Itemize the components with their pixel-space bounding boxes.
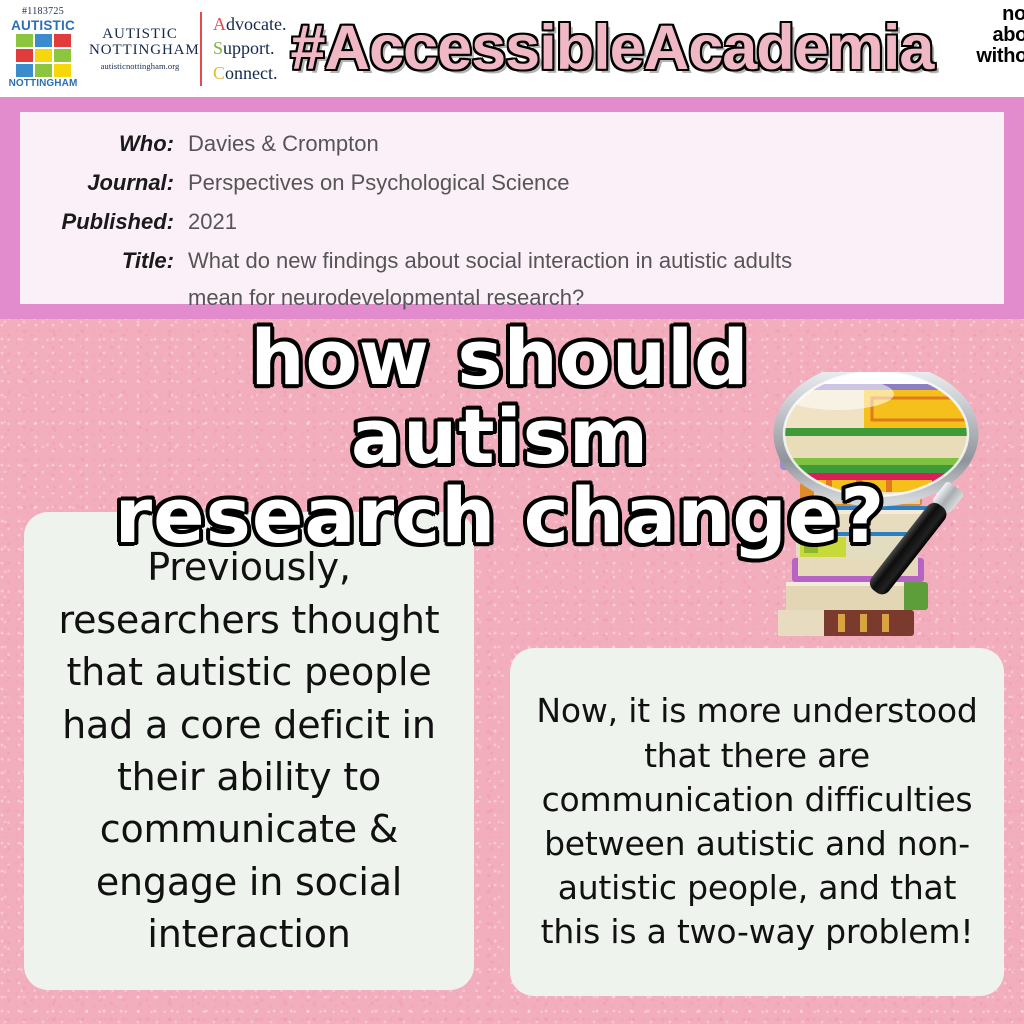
logo-cell-9: [54, 64, 71, 77]
card-now-text: Now, it is more understood that there ar…: [528, 689, 986, 954]
card-previously-text: Previously, researchers thought that aut…: [44, 541, 454, 961]
metadata-row-who: Who: Davies & Crompton: [36, 126, 988, 163]
logo-cell-4: [16, 49, 33, 62]
page-number: 1/4: [933, 67, 1024, 93]
brand-line-1: AUTISTIC: [89, 26, 191, 42]
value-support-rest: upport.: [223, 38, 275, 58]
value-connect: Connect.: [213, 61, 286, 85]
metadata-title-line-2: mean for neurodevelopmental research?: [188, 280, 988, 317]
logo-cell-1: [16, 34, 33, 47]
card-previously: Previously, researchers thought that aut…: [24, 512, 474, 990]
metadata-row-published: Published: 2021: [36, 204, 988, 241]
value-connect-initial: C: [213, 63, 225, 83]
logo-cell-8: [35, 64, 52, 77]
card-now: Now, it is more understood that there ar…: [510, 648, 1004, 996]
metadata-label-title: Title:: [36, 243, 188, 280]
magnifying-glass-books-illustration: [752, 372, 1020, 648]
brand-name-block: AUTISTIC NOTTINGHAM autisticnottingham.o…: [89, 26, 191, 72]
tagline-block: nothing about us without us 1/4: [933, 4, 1024, 93]
logo-bottom-word: NOTTINGHAM: [9, 79, 78, 89]
tagline-line-3: without us: [933, 46, 1024, 67]
infographic-page: #1183725 AUTISTIC NOTTINGHAM AUTISTIC NO…: [0, 0, 1024, 1024]
metadata-value-journal: Perspectives on Psychological Science: [188, 165, 988, 202]
hashtag-accessible-academia: #AccessibleAcademia: [290, 17, 933, 80]
logo-color-grid: [16, 34, 71, 77]
book-green: [786, 582, 928, 610]
value-advocate-rest: dvocate.: [226, 14, 286, 34]
autistic-nottingham-logo: #1183725 AUTISTIC NOTTINGHAM: [3, 3, 83, 95]
charity-reference-number: #1183725: [22, 7, 64, 17]
values-block: Advocate. Support. Connect.: [213, 12, 286, 85]
tagline-line-1: nothing: [933, 4, 1024, 25]
book-dark-brown: [778, 610, 914, 636]
logo-cell-5: [35, 49, 52, 62]
metadata-title-line-1: What do new findings about social intera…: [188, 248, 792, 273]
value-advocate: Advocate.: [213, 12, 286, 36]
value-support: Support.: [213, 36, 286, 60]
brand-line-2: NOTTINGHAM: [89, 42, 191, 58]
logo-cell-7: [16, 64, 33, 77]
metadata-value-who: Davies & Crompton: [188, 126, 988, 163]
logo-cell-6: [54, 49, 71, 62]
brand-website-url[interactable]: autisticnottingham.org: [89, 62, 191, 71]
paper-metadata-card: Who: Davies & Crompton Journal: Perspect…: [20, 112, 1004, 304]
logo-cell-3: [54, 34, 71, 47]
metadata-value-title: What do new findings about social intera…: [188, 243, 988, 317]
logo-cell-2: [35, 34, 52, 47]
header-bar: #1183725 AUTISTIC NOTTINGHAM AUTISTIC NO…: [0, 0, 1024, 97]
metadata-label-who: Who:: [36, 126, 188, 163]
value-support-initial: S: [213, 38, 223, 58]
value-advocate-initial: A: [213, 14, 226, 34]
tagline-line-2: about us: [933, 25, 1024, 46]
metadata-label-published: Published:: [36, 204, 188, 241]
logo-top-word: AUTISTIC: [11, 19, 75, 33]
metadata-label-journal: Journal:: [36, 165, 188, 202]
metadata-row-title: Title: What do new findings about social…: [36, 243, 988, 317]
metadata-row-journal: Journal: Perspectives on Psychological S…: [36, 165, 988, 202]
value-connect-rest: onnect.: [225, 63, 277, 83]
metadata-value-published: 2021: [188, 204, 988, 241]
vertical-divider: [200, 12, 202, 86]
